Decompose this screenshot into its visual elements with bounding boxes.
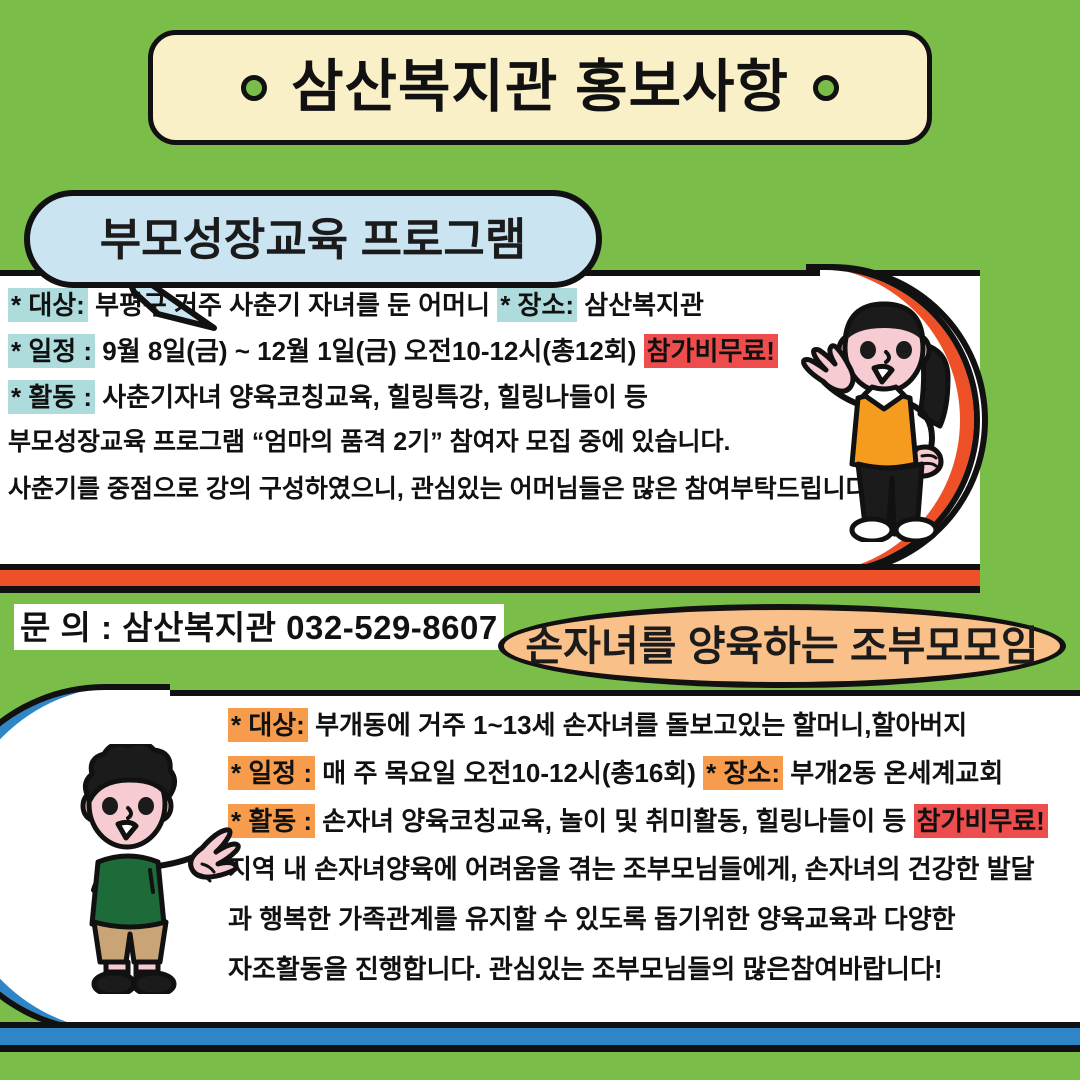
program1-row-activity: * 활동 : 사춘기자녀 양육코칭교육, 힐링특강, 힐링나들이 등 [8,384,808,410]
program1-schedule-value: 9월 8일(금) ~ 12월 1일(금) 오전10-12시(총12회) [95,336,644,366]
right-dot-icon [813,75,839,101]
program1-row-target: * 대상: 부평구 거주 사춘기 자녀를 둔 어머니 * 장소: 삼산복지관 [8,292,808,318]
contact-strip: 문 의 : 삼산복지관 032-529-8607 [14,604,504,650]
left-dot-icon [241,75,267,101]
program2-schedule-value: 매 주 목요일 오전10-12시(총16회) [315,758,703,788]
program2-place-value: 부개2동 온세계교회 [783,758,1003,788]
program2-details: * 대상: 부개동에 거주 1~13세 손자녀를 돌보고있는 할머니,할아버지 … [228,712,1078,1006]
program1-title: 부모성장교육 프로그램 [100,217,527,262]
program1-target-value: 부평구 거주 사춘기 자녀를 둔 어머니 [88,290,497,320]
program1-row-schedule: * 일정 : 9월 8일(금) ~ 12월 1일(금) 오전10-12시(총12… [8,338,808,364]
program1-paragraph-line-2: 사춘기를 중점으로 강의 구성하였으니, 관심있는 어머님들은 많은 참여부탁드… [8,477,808,502]
program2-divider-accent [0,1028,1080,1045]
program2-activity-value: 손자녀 양육코칭교육, 놀이 및 취미활동, 힐링나들이 등 [315,806,913,836]
program1-title-bubble: 부모성장교육 프로그램 [24,190,602,288]
program2-divider-bottom-line [0,1045,1080,1052]
program1-free-badge: 참가비무료! [644,334,778,368]
program2-target-label: * 대상: [228,708,308,742]
program1-paragraph-line-1: 부모성장교육 프로그램 “엄마의 품격 2기” 참여자 모집 중에 있습니다. [8,430,808,455]
program2-paragraph-line-3: 자조활동을 진행합니다. 관심있는 조부모님들의 많은참여바랍니다! [228,956,1078,982]
program2-row-activity: * 활동 : 손자녀 양육코칭교육, 놀이 및 취미활동, 힐링나들이 등 참가… [228,808,1078,834]
program2-title-ellipse: 손자녀를 양육하는 조부모모임 [498,604,1066,688]
program2-paragraph-line-1: 지역 내 손자녀양육에 어려움을 겪는 조부모님들에게, 손자녀의 건강한 발달 [228,856,1078,882]
woman-waving-illustration [800,292,980,542]
boy-open-arms-illustration [62,744,252,994]
program2-row-schedule: * 일정 : 매 주 목요일 오전10-12시(총16회) * 장소: 부개2동… [228,760,1078,786]
poster-title-banner: 삼산복지관 홍보사항 [148,30,932,145]
program2-place-label: * 장소: [703,756,783,790]
program1-details: * 대상: 부평구 거주 사춘기 자녀를 둔 어머니 * 장소: 삼산복지관 *… [8,292,808,524]
program1-place-label: * 장소: [497,288,577,322]
program1-place-value: 삼산복지관 [577,290,704,320]
program2-free-badge: 참가비무료! [914,804,1048,838]
program1-activity-value: 사춘기자녀 양육코칭교육, 힐링특강, 힐링나들이 등 [95,382,648,412]
program2-title: 손자녀를 양육하는 조부모모임 [525,626,1038,667]
program2-paragraph-line-2: 과 행복한 가족관계를 유지할 수 있도록 돕기위한 양육교육과 다양한 [228,906,1078,932]
program1-divider-bottom-line [0,586,980,593]
program1-divider-accent [0,570,980,586]
program1-target-label: * 대상: [8,288,88,322]
promotional-poster: 삼산복지관 홍보사항 부모성장교육 프로그램 * 대상: 부평구 거주 사춘기 … [0,0,1080,1080]
program2-target-value: 부개동에 거주 1~13세 손자녀를 돌보고있는 할머니,할아버지 [308,710,967,740]
program1-activity-label: * 활동 : [8,380,95,414]
page-title: 삼산복지관 홍보사항 [291,59,789,116]
program2-row-target: * 대상: 부개동에 거주 1~13세 손자녀를 돌보고있는 할머니,할아버지 [228,712,1078,738]
program1-schedule-label: * 일정 : [8,334,95,368]
contact-text: 문 의 : 삼산복지관 032-529-8607 [20,611,498,644]
